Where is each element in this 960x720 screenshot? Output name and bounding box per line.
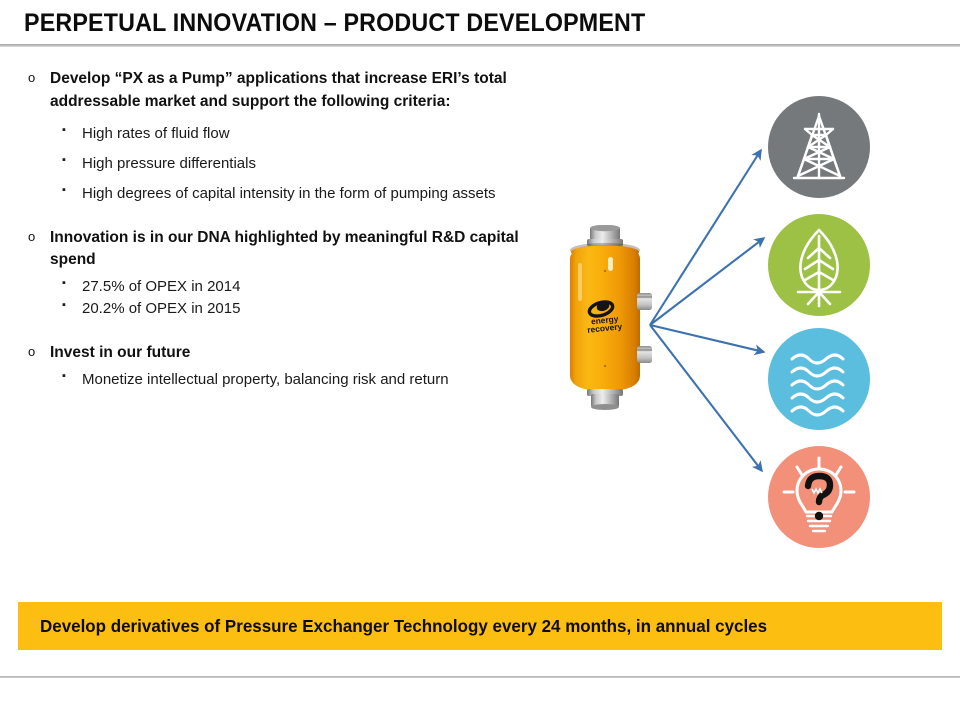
page-title: PERPETUAL INNOVATION – PRODUCT DEVELOPME… bbox=[24, 9, 645, 38]
bullet-level2-text: 20.2% of OPEX in 2015 bbox=[82, 300, 240, 317]
water-waves-icon bbox=[768, 328, 870, 430]
bullet-level2-text: High rates of fluid flow bbox=[82, 125, 230, 142]
bullet-marker-square-icon: ▪ bbox=[62, 275, 66, 292]
bullet-marker-circle-icon: o bbox=[28, 227, 35, 246]
bullet-level2-text: Monetize intellectual property, balancin… bbox=[82, 371, 449, 388]
bullet-level2: ▪ 20.2% of OPEX in 2015 bbox=[24, 298, 544, 320]
diagram-arrows bbox=[540, 88, 960, 578]
bullet-level2: ▪ High rates of fluid flow bbox=[24, 123, 544, 145]
callout-banner: Develop derivatives of Pressure Exchange… bbox=[18, 602, 942, 650]
bullet-level1-text: Develop “PX as a Pump” applications that… bbox=[50, 70, 507, 110]
bullet-marker-circle-icon: o bbox=[28, 68, 35, 87]
bullet-marker-square-icon: ▪ bbox=[62, 122, 66, 139]
bullet-level2-text: High pressure differentials bbox=[82, 155, 256, 172]
leaf-icon bbox=[768, 214, 870, 316]
oil-derrick-icon bbox=[768, 96, 870, 198]
title-bar: PERPETUAL INNOVATION – PRODUCT DEVELOPME… bbox=[0, 0, 960, 48]
target-circle-water bbox=[768, 328, 870, 430]
bullet-level2: ▪ High degrees of capital intensity in t… bbox=[24, 183, 544, 205]
callout-banner-text: Develop derivatives of Pressure Exchange… bbox=[40, 602, 905, 650]
diagram-area bbox=[540, 88, 960, 578]
bullet-level2: ▪ High pressure differentials bbox=[24, 153, 544, 175]
slide-footer: energy recovery™ STRICTLY PRIVATE AND CO… bbox=[0, 678, 960, 720]
bullet-block: o Innovation is in our DNA highlighted b… bbox=[24, 227, 544, 321]
target-circle-oil bbox=[768, 96, 870, 198]
bullet-marker-square-icon: ▪ bbox=[62, 368, 66, 385]
bullet-level2-text: 27.5% of OPEX in 2014 bbox=[82, 278, 240, 295]
bullet-level2: ▪ Monetize intellectual property, balanc… bbox=[24, 369, 544, 391]
bullet-level1: o Develop “PX as a Pump” applications th… bbox=[24, 68, 544, 114]
bullet-level1-text: Innovation is in our DNA highlighted by … bbox=[50, 229, 519, 269]
lightbulb-question-icon bbox=[768, 446, 870, 548]
bullet-marker-square-icon: ▪ bbox=[62, 152, 66, 169]
title-divider bbox=[0, 44, 960, 47]
target-circle-environment bbox=[768, 214, 870, 316]
bullet-marker-square-icon: ▪ bbox=[62, 182, 66, 199]
target-circle-innovation bbox=[768, 446, 870, 548]
bullet-block: o Develop “PX as a Pump” applications th… bbox=[24, 68, 544, 205]
bullet-marker-circle-icon: o bbox=[28, 342, 35, 361]
slide-canvas: PERPETUAL INNOVATION – PRODUCT DEVELOPME… bbox=[0, 0, 960, 720]
bullet-level1-text: Invest in our future bbox=[50, 344, 190, 361]
bullet-level1: o Innovation is in our DNA highlighted b… bbox=[24, 227, 544, 273]
bullet-marker-square-icon: ▪ bbox=[62, 297, 66, 314]
bullet-content: o Develop “PX as a Pump” applications th… bbox=[24, 68, 544, 391]
bullet-level2: ▪ 27.5% of OPEX in 2014 bbox=[24, 276, 544, 298]
bullet-block: o Invest in our future ▪ Monetize intell… bbox=[24, 342, 544, 391]
bullet-level2-text: High degrees of capital intensity in the… bbox=[82, 185, 496, 202]
bullet-level1: o Invest in our future bbox=[24, 342, 544, 365]
